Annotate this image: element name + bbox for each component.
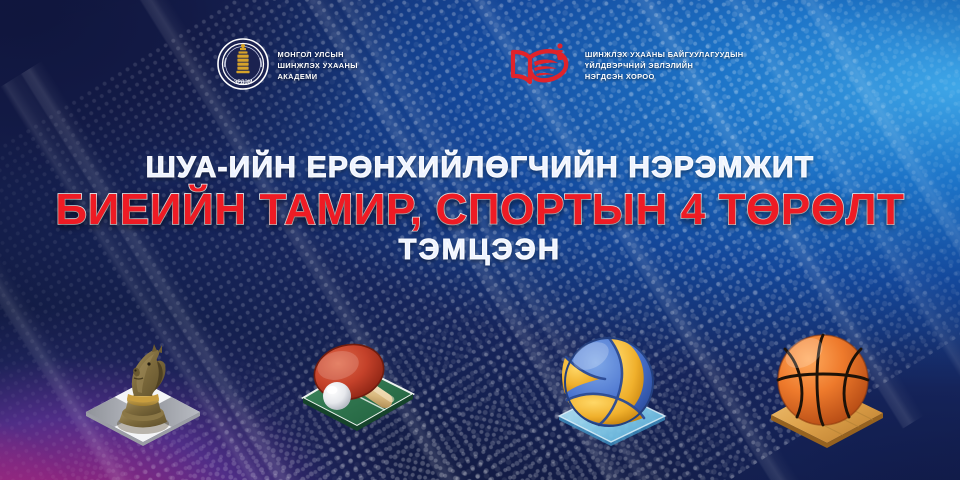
logo-line: МОНГОЛ УЛСЫН	[278, 50, 358, 61]
logo-science-trade-union: ШИНЖЛЭХ УХААНЫ БАЙГУУЛАГУУДЫН ҮЙЛДВЭРЧНИ…	[508, 38, 744, 95]
book-flame-torch-icon	[508, 38, 576, 95]
academy-seal-icon: ЭРДЭМ	[217, 38, 269, 95]
basketball-icon	[755, 323, 900, 451]
logo-mongolian-academy-of-sciences: ЭРДЭМ МОНГОЛ УЛСЫН ШИНЖЛЭХ УХААНЫ АКАДЕМ…	[217, 38, 358, 95]
logo-row: ЭРДЭМ МОНГОЛ УЛСЫН ШИНЖЛЭХ УХААНЫ АКАДЕМ…	[0, 38, 960, 95]
sport-icon-row	[0, 322, 960, 462]
logo-line: ШИНЖЛЭХ УХААНЫ БАЙГУУЛАГУУДЫН	[585, 50, 744, 61]
logo-text-academy: МОНГОЛ УЛСЫН ШИНЖЛЭХ УХААНЫ АКАДЕМИ	[278, 50, 358, 82]
event-banner: ЭРДЭМ МОНГОЛ УЛСЫН ШИНЖЛЭХ УХААНЫ АКАДЕМ…	[0, 0, 960, 480]
sport-item-basketball	[755, 323, 900, 456]
logo-text-trade-union: ШИНЖЛЭХ УХААНЫ БАЙГУУЛАГУУДЫН ҮЙЛДВЭРЧНИ…	[585, 50, 744, 82]
sport-item-volleyball	[545, 324, 675, 454]
event-title-block: ШУА-ИЙН ЕРӨНХИЙЛӨГЧИЙН НЭРЭМЖИТ БИЕИЙН Т…	[0, 152, 960, 266]
logo-line: АКАДЕМИ	[278, 72, 358, 83]
chess-knight-icon	[78, 332, 208, 457]
logo-line: НЭГДСЭН ХОРОО	[585, 72, 744, 83]
title-line-2: БИЕИЙН ТАМИР, СПОРТЫН 4 ТӨРӨЛТ	[0, 185, 960, 234]
volleyball-icon	[545, 324, 675, 449]
table-tennis-icon	[293, 328, 423, 443]
title-line-1: ШУА-ИЙН ЕРӨНХИЙЛӨГЧИЙН НЭРЭМЖИТ	[0, 152, 960, 183]
logo-line: ШИНЖЛЭХ УХААНЫ	[278, 61, 358, 72]
academy-seal-motto: ЭРДЭМ	[233, 80, 252, 86]
title-line-3: ТЭМЦЭЭН	[0, 235, 960, 265]
sport-item-table-tennis	[293, 328, 423, 448]
sport-item-chess	[78, 332, 208, 462]
logo-line: ҮЙЛДВЭРЧНИЙ ЭВЛЭЛИЙН	[585, 61, 744, 72]
